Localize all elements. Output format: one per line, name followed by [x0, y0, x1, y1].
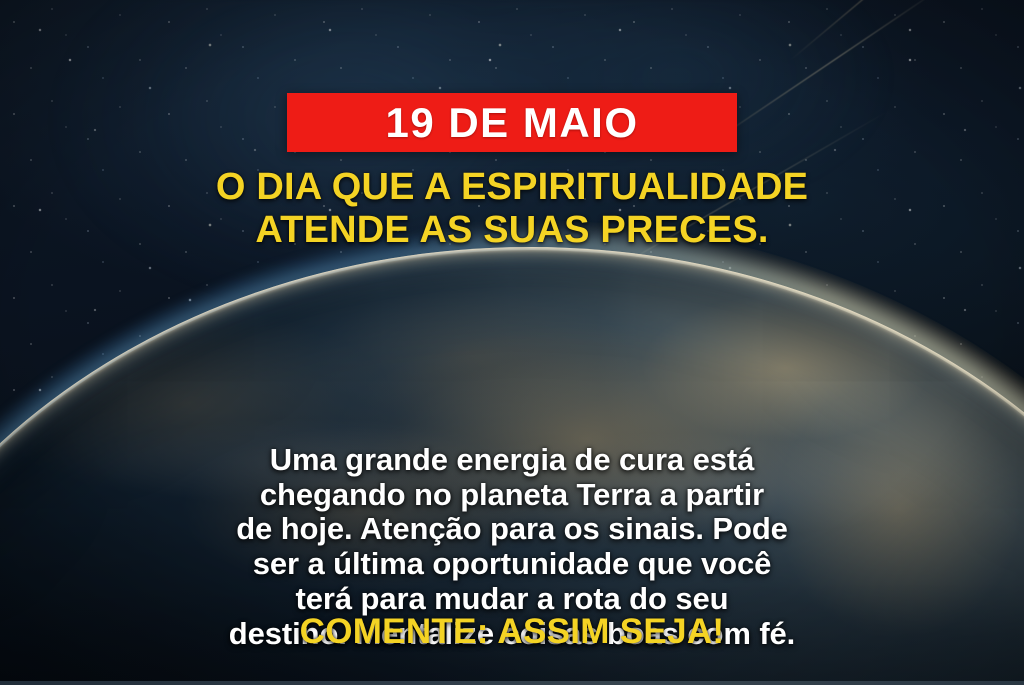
- body-line-4: ser a última oportunidade que você: [52, 547, 972, 582]
- poster-canvas: 19 DE MAIO O DIA QUE A ESPIRITUALIDADE A…: [0, 0, 1024, 685]
- poster-content: 19 DE MAIO O DIA QUE A ESPIRITUALIDADE A…: [0, 0, 1024, 685]
- body-line-2: chegando no planeta Terra a partir: [52, 478, 972, 513]
- call-to-action-text: COMENTE: ASSIM SEJA!: [0, 612, 1024, 652]
- body-line-1: Uma grande energia de cura está: [52, 443, 972, 478]
- date-banner: 19 DE MAIO: [287, 93, 737, 152]
- body-line-3: de hoje. Atenção para os sinais. Pode: [52, 512, 972, 547]
- headline: O DIA QUE A ESPIRITUALIDADE ATENDE AS SU…: [216, 166, 808, 253]
- headline-line-2: ATENDE AS SUAS PRECES.: [216, 209, 808, 252]
- date-banner-text: 19 DE MAIO: [385, 102, 638, 144]
- headline-line-1: O DIA QUE A ESPIRITUALIDADE: [216, 166, 808, 209]
